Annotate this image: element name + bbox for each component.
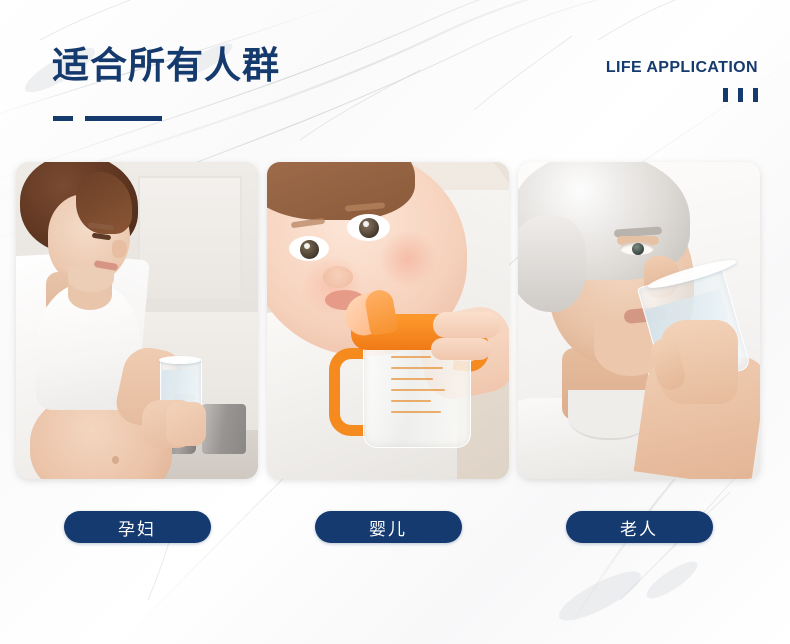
page-title: 适合所有人群 [52,45,280,86]
page-root: 适合所有人群 LIFE APPLICATION [0,0,790,644]
label-slot-3: 老人 [518,511,760,544]
photo-card-list [16,162,760,479]
photo-card-pregnant[interactable] [16,162,258,479]
elderly-man-photo [518,162,760,479]
pregnant-woman-photo [16,162,258,479]
underline-dash [53,116,73,121]
baby-photo [267,162,509,479]
label-pill-infant[interactable]: 婴儿 [315,511,462,543]
dot-decoration [723,88,758,102]
label-slot-2: 婴儿 [267,511,509,544]
dot-bar-3 [753,88,758,102]
underline-bar [85,116,162,121]
label-row: 孕妇 婴儿 老人 [16,511,760,544]
label-pill-pregnant[interactable]: 孕妇 [64,511,211,543]
photo-card-infant[interactable] [267,162,509,479]
subtitle-en: LIFE APPLICATION [606,59,758,77]
dot-bar-1 [723,88,728,102]
dot-bar-2 [738,88,743,102]
label-slot-1: 孕妇 [16,511,258,544]
photo-card-elderly[interactable] [518,162,760,479]
sippy-cup-left-handle [329,348,365,436]
label-pill-elderly[interactable]: 老人 [566,511,713,543]
sippy-cup-measure-marks [391,354,447,422]
